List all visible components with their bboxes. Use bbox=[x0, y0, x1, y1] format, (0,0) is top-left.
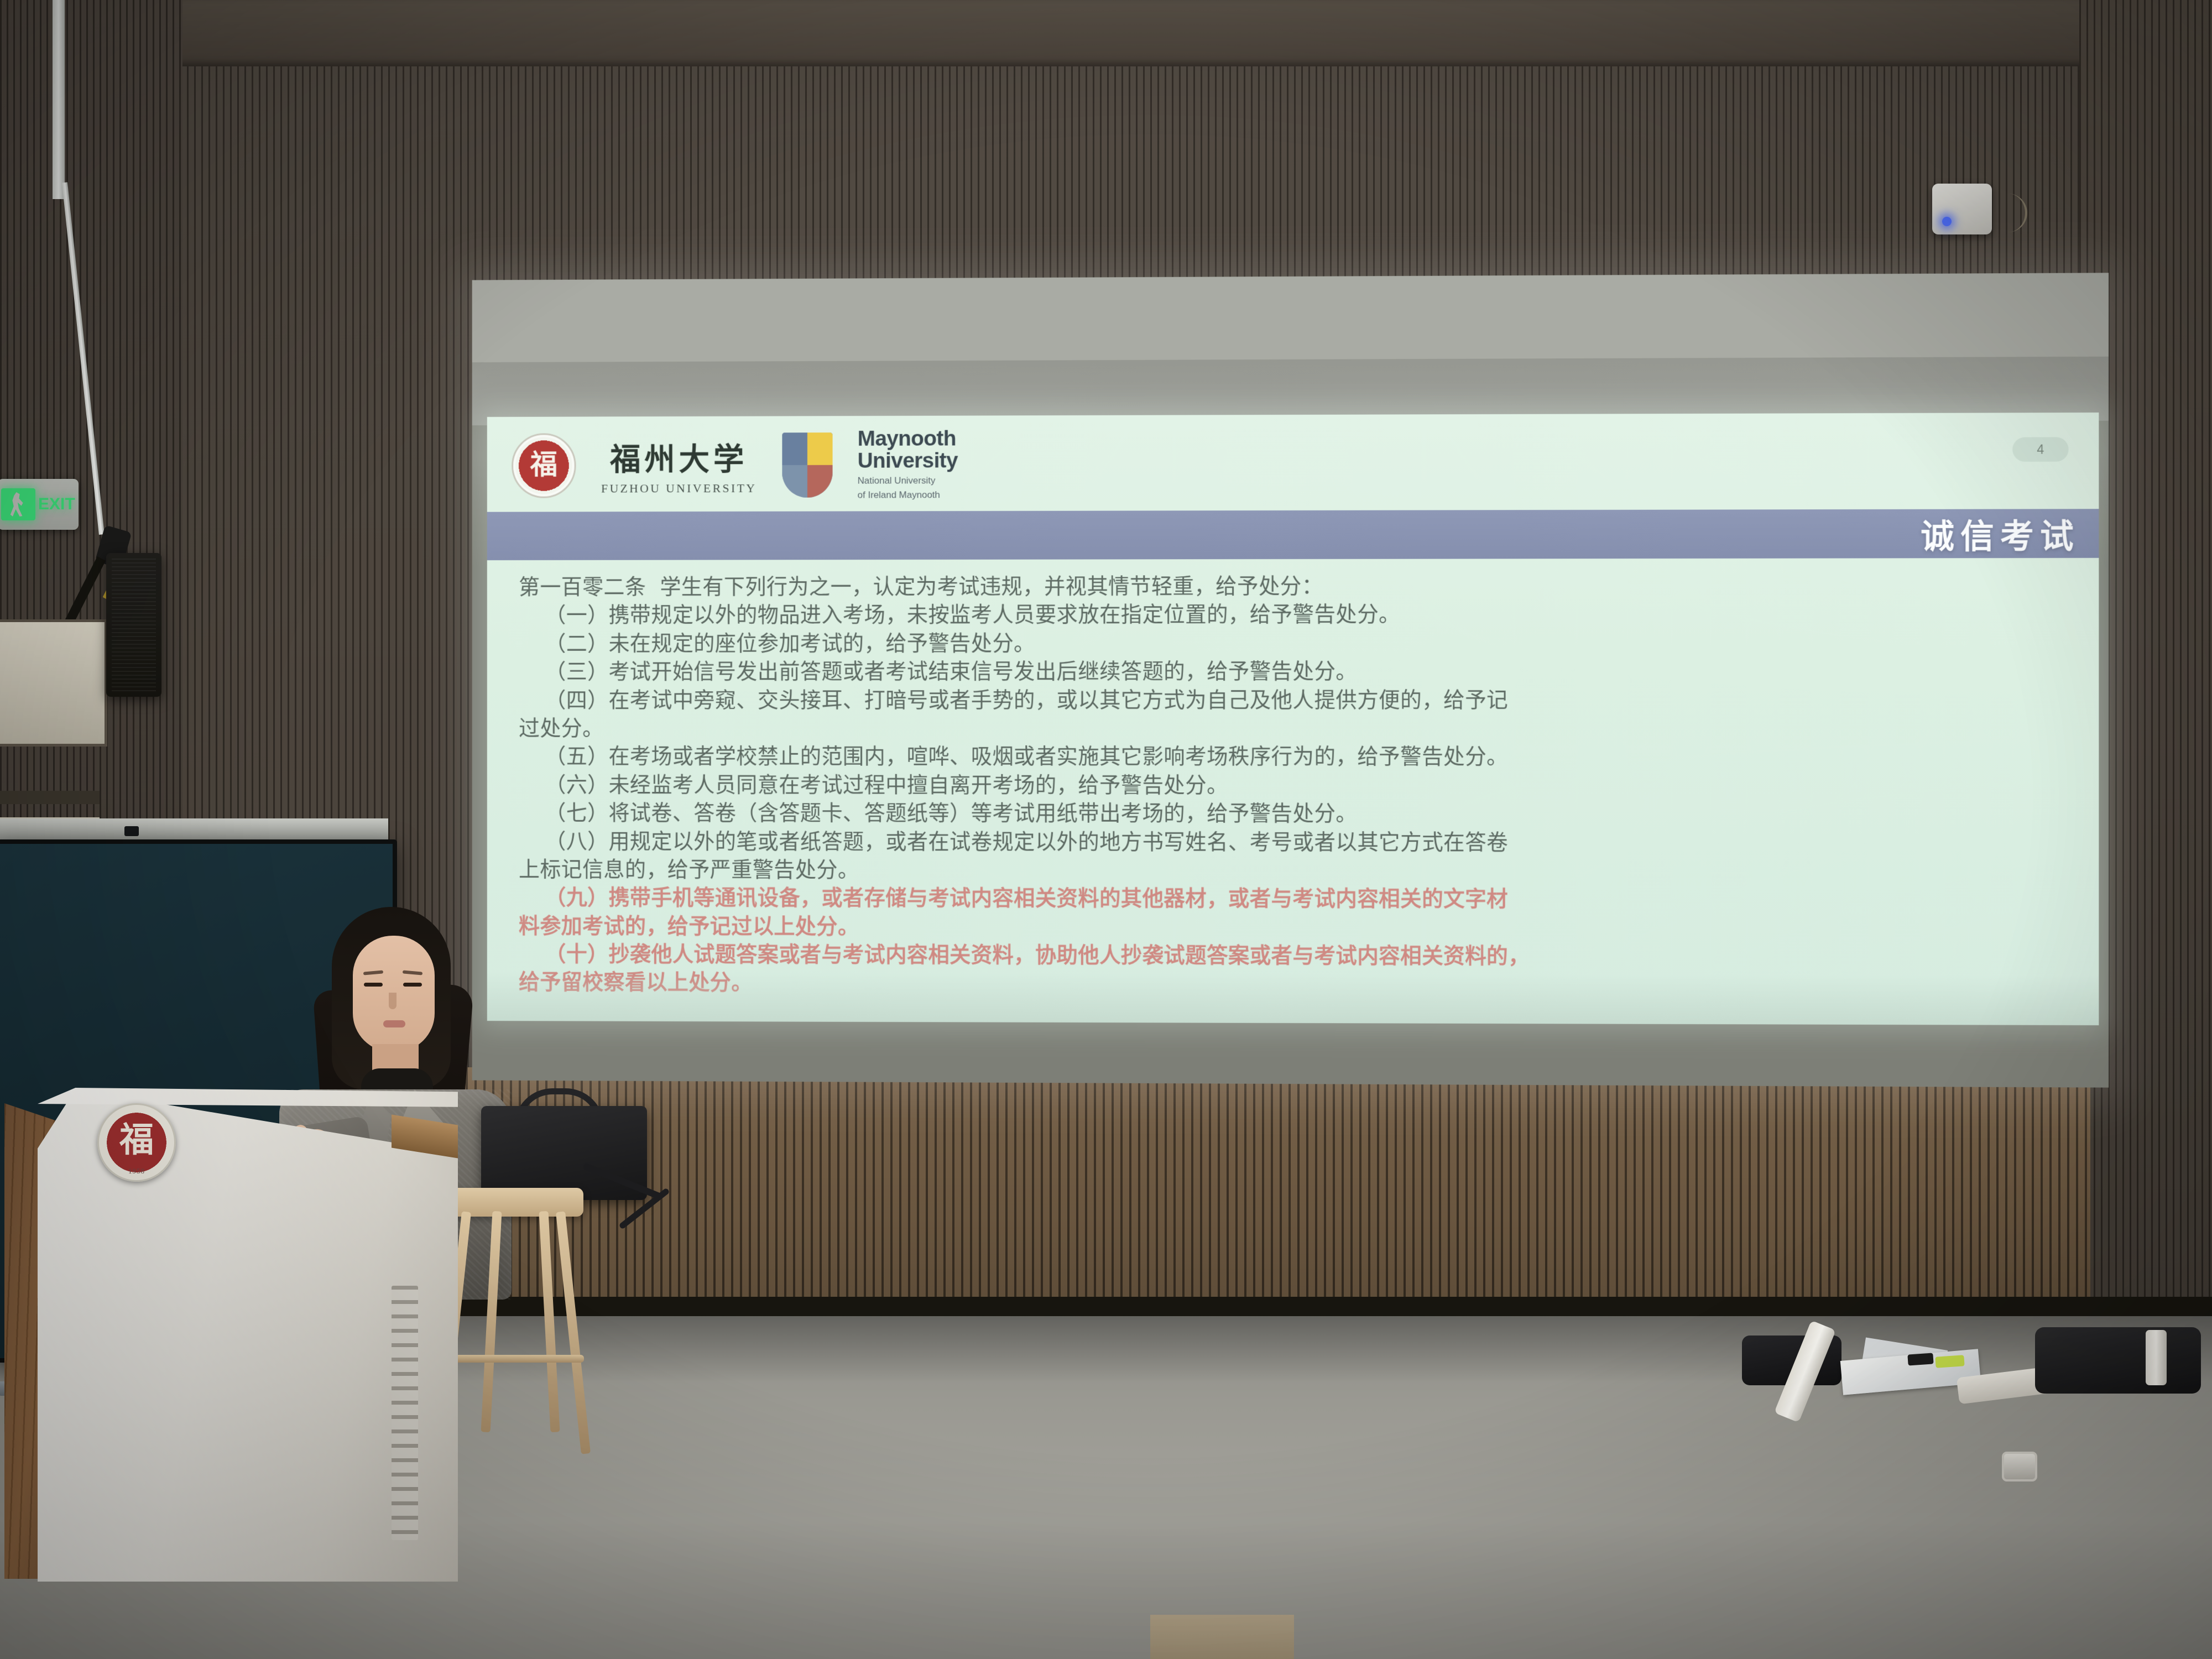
slide-body-line: （六）未经监考人员同意在考试过程中擅自离开考场的，给予警告处分。 bbox=[519, 771, 2074, 800]
podium-seal-char: 福 bbox=[119, 1123, 154, 1157]
slide-body-line: （七）将试卷、答卷（含答题卡、答题纸等）等考试用纸带出考场的，给予警告处分。 bbox=[519, 799, 2074, 829]
fuzhou-name-en: FUZHOU UNIVERSITY bbox=[601, 481, 757, 495]
fuzhou-university-name: 福州大学 FUZHOU UNIVERSITY bbox=[601, 434, 757, 495]
lecture-hall-photo: 福 福州大学 FUZHOU UNIVERSITY Maynooth Univer… bbox=[0, 0, 2212, 1659]
slide-body-line: （二）未在规定的座位参加考试的，给予警告处分。 bbox=[519, 629, 2074, 658]
fuzhou-seal-char: 福 bbox=[530, 451, 557, 478]
black-bag-on-stool bbox=[481, 1106, 647, 1200]
floor-green-object bbox=[1935, 1355, 1964, 1368]
slide-body-line: （八）用规定以外的笔或者纸答题，或者在试卷规定以外的地方书写姓名、考号或者以其它… bbox=[519, 827, 2074, 858]
wall-speaker bbox=[106, 553, 161, 697]
podium-vent-grille bbox=[392, 1286, 418, 1540]
ceiling-band bbox=[0, 0, 2212, 66]
slide-bottom-fade bbox=[487, 972, 2099, 1025]
maynooth-sub1: National University bbox=[858, 475, 958, 487]
slide-title-bar: 诚信考试 bbox=[487, 509, 2099, 560]
slide-logos: 福 福州大学 FUZHOU UNIVERSITY Maynooth Univer… bbox=[512, 428, 958, 502]
projection-top-band bbox=[472, 273, 2109, 362]
floor-bag-right bbox=[2035, 1327, 2201, 1394]
wall-shelf-dark bbox=[0, 791, 100, 804]
ceiling-pole bbox=[53, 0, 65, 199]
wall-cabinet bbox=[0, 619, 107, 747]
slide-body-line: （四）在考试中旁窥、交头接耳、打暗号或者手势的，或以其它方式为自己及他人提供方便… bbox=[519, 686, 2074, 714]
slide-title: 诚信考试 bbox=[1921, 509, 2080, 558]
sensor-cable bbox=[1989, 194, 2027, 232]
slide-body-line: 过处分。 bbox=[519, 714, 2074, 743]
stool-rung bbox=[446, 1355, 584, 1363]
slide-body-line: （十）抄袭他人试题答案或者与考试内容相关资料，协助他人抄袭试题答案或者与考试内容… bbox=[519, 940, 2074, 972]
mouth bbox=[383, 1020, 405, 1027]
podium bbox=[4, 1103, 447, 1579]
slide-body-line: 料参加考试的，给予记过以上处分。 bbox=[519, 912, 2074, 943]
slide-body-line: （一）携带规定以外的物品进入考场，未按监考人员要求放在指定位置的，给予警告处分。 bbox=[519, 600, 2074, 630]
floor-dark-object bbox=[1907, 1353, 1933, 1365]
exit-sign-label: EXIT bbox=[38, 495, 75, 514]
running-person-exit-icon bbox=[1, 488, 35, 520]
podium-seal-year: 1958 bbox=[128, 1167, 145, 1176]
maynooth-line2: University bbox=[858, 450, 958, 472]
slide-body-text: 第一百零二条 学生有下列行为之一，认定为考试违规，并视其情节轻重，给予处分：（一… bbox=[519, 571, 2074, 1000]
wall-sensor bbox=[1932, 184, 1992, 234]
floor-cup bbox=[2002, 1452, 2037, 1481]
sensor-led-icon bbox=[1942, 217, 1952, 226]
eye-left bbox=[364, 983, 383, 987]
slide-page-number: 4 bbox=[2012, 437, 2068, 462]
eye-right bbox=[403, 983, 422, 987]
floor-bottle bbox=[2146, 1330, 2167, 1385]
maynooth-sub2: of Ireland Maynooth bbox=[858, 490, 958, 502]
maynooth-shield-icon bbox=[782, 432, 832, 498]
maynooth-university-name: Maynooth University National University … bbox=[858, 428, 958, 502]
fuzhou-university-seal-icon: 福 bbox=[512, 433, 576, 498]
podium-university-seal-icon: 福 1958 bbox=[97, 1103, 176, 1182]
slide-body-line: 上标记信息的，给予严重警告处分。 bbox=[519, 855, 2074, 886]
slide-body-line: 第一百零二条 学生有下列行为之一，认定为考试违规，并视其情节轻重，给予处分： bbox=[519, 571, 2074, 602]
slide-body-line: （三）考试开始信号发出前答题或者考试结束信号发出后继续答题的，给予警告处分。 bbox=[519, 657, 2074, 686]
display-camera-icon bbox=[124, 826, 139, 836]
slide-body-line: （九）携带手机等通讯设备，或者存储与考试内容相关资料的其他器材，或者与考试内容相… bbox=[519, 884, 2074, 915]
presentation-slide: 福 福州大学 FUZHOU UNIVERSITY Maynooth Univer… bbox=[487, 413, 2099, 1025]
floor-seam bbox=[1150, 1615, 1294, 1659]
exit-sign: EXIT bbox=[0, 479, 79, 530]
slide-body-line: （五）在考场或者学校禁止的范围内，喧哗、吸烟或者实施其它影响考场秩序行为的，给予… bbox=[519, 743, 2074, 771]
maynooth-line1: Maynooth bbox=[858, 428, 958, 450]
fuzhou-name-cn: 福州大学 bbox=[610, 435, 748, 479]
nose bbox=[389, 993, 397, 1009]
